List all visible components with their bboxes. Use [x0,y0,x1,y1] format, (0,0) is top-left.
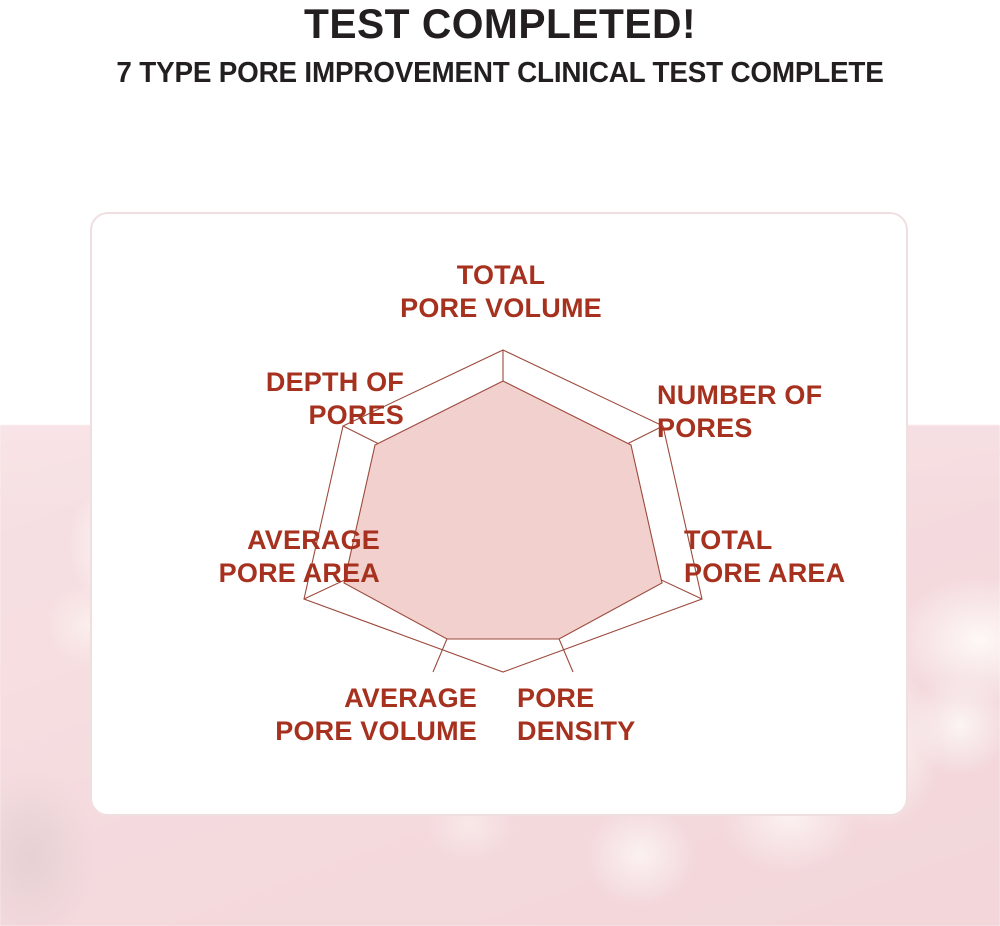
axis-label-depth-of-pores: DEPTH OF PORES [132,366,404,432]
page-title: TEST COMPLETED! [15,0,985,46]
page-subtitle: 7 TYPE PORE IMPROVEMENT CLINICAL TEST CO… [20,46,980,88]
axis-label-total-pore-area: TOTAL PORE AREA [684,524,924,590]
axis-label-number-of-pores: NUMBER OF PORES [657,379,902,445]
axis-label-pore-density: PORE DENSITY [517,682,717,748]
axis-label-average-pore-area: AVERAGE PORE AREA [112,524,380,590]
header: TEST COMPLETED! 7 TYPE PORE IMPROVEMENT … [0,0,1000,89]
axis-label-average-pore-volume: AVERAGE PORE VOLUME [192,682,477,748]
chart-card: TOTAL PORE VOLUME NUMBER OF PORES TOTAL … [90,212,908,816]
axis-label-total-pore-volume: TOTAL PORE VOLUME [360,259,642,325]
